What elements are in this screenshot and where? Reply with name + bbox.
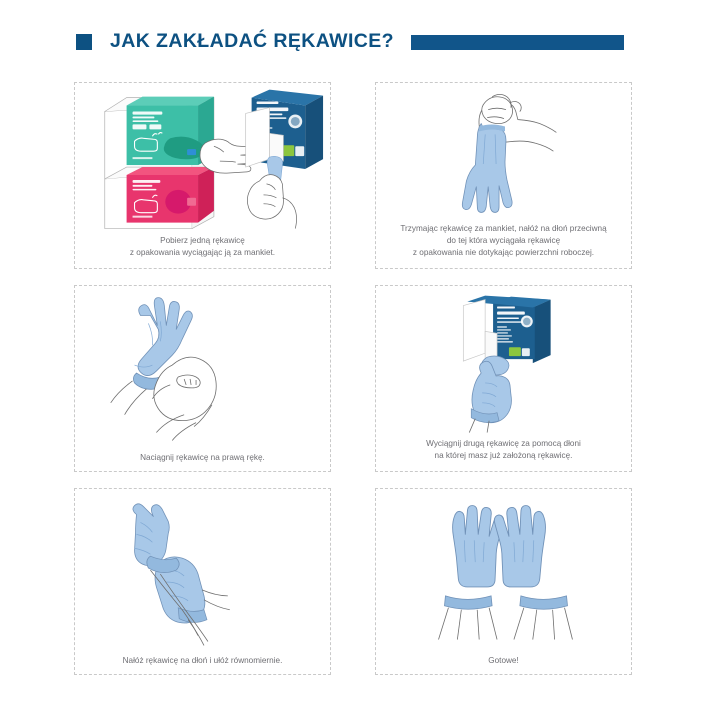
glove-dispenser-boxes-illustration [75, 83, 330, 235]
step-panel-5: Nałóż rękawicę na dłoń i ułóż równomiern… [74, 488, 331, 675]
adjusting-second-glove-illustration [75, 489, 330, 655]
both-hands-gloved-illustration [376, 489, 631, 655]
step-panel-6: Gotowe! [375, 488, 632, 675]
square-bullet-icon [76, 34, 92, 50]
pulling-glove-onto-right-hand-illustration [75, 286, 330, 452]
horizontal-rule-bar [411, 35, 624, 50]
step-caption: Naciągnij rękawicę na prawą rękę. [75, 452, 330, 471]
page-header: JAK ZAKŁADAĆ RĘKAWICE? [0, 0, 706, 82]
step-caption: Wyciągnij drugą rękawicę za pomocą dłoni… [376, 438, 631, 471]
step-caption: Nałóż rękawicę na dłoń i ułóż równomiern… [75, 655, 330, 674]
gloved-hand-taking-second-glove-illustration [376, 286, 631, 438]
step-panel-1: Pobierz jedną rękawicę z opakowania wyci… [74, 82, 331, 269]
page-title: JAK ZAKŁADAĆ RĘKAWICE? [110, 30, 394, 53]
step-caption: Pobierz jedną rękawicę z opakowania wyci… [75, 235, 330, 268]
step-panel-3: Naciągnij rękawicę na prawą rękę. [74, 285, 331, 472]
step-caption: Trzymając rękawicę za mankiet, nałóż na … [376, 223, 631, 268]
step-caption: Gotowe! [376, 655, 631, 674]
hand-holding-glove-by-cuff-illustration [376, 83, 631, 223]
steps-grid: Pobierz jedną rękawicę z opakowania wyci… [74, 82, 632, 686]
gloved-hand-taking-second-glove-illustration-wrap: Wyciągnij drugą rękawicę za pomocą dłoni… [375, 285, 632, 472]
step-panel-2: Trzymając rękawicę za mankiet, nałóż na … [375, 82, 632, 269]
